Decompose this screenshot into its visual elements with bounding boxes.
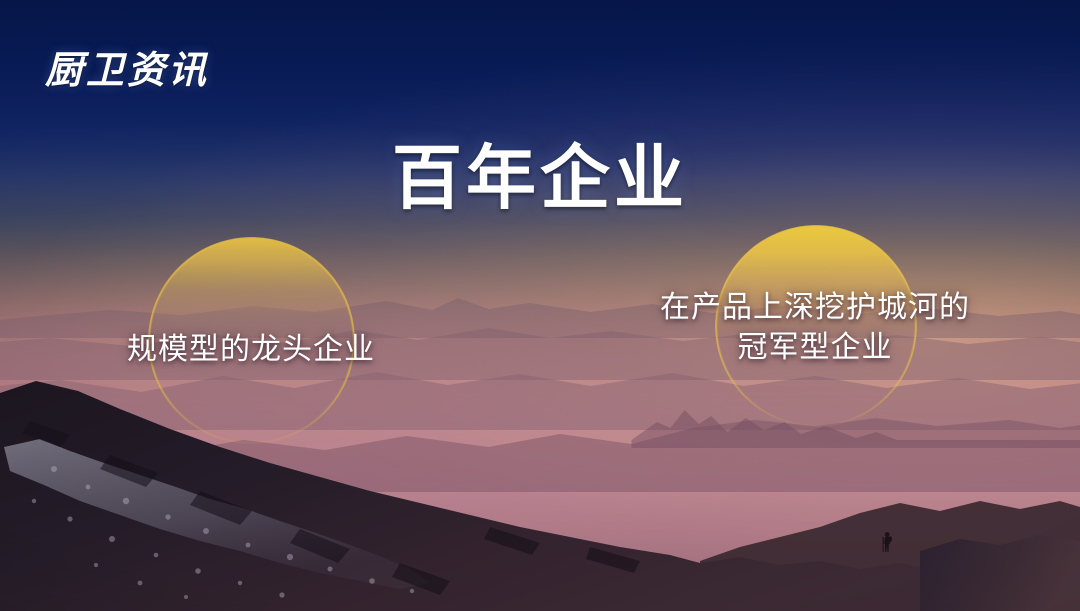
foreground-mountain bbox=[0, 351, 1080, 611]
label-right-line-1: 在产品上深挖护城河的 bbox=[590, 288, 1040, 328]
label-right-line-2: 冠军型企业 bbox=[590, 328, 1040, 368]
slide-canvas: 厨卫资讯 百年企业 规模型的龙头企业 在产品上深挖护城河的 冠军型企业 bbox=[0, 0, 1080, 611]
brand-logo: 厨卫资讯 bbox=[45, 39, 209, 94]
label-left-scale-leader: 规模型的龙头企业 bbox=[0, 330, 502, 370]
label-right-champion: 在产品上深挖护城河的 冠军型企业 bbox=[590, 288, 1040, 367]
page-title: 百年企业 bbox=[0, 145, 1080, 215]
hiker-silhouette-icon bbox=[879, 531, 895, 553]
